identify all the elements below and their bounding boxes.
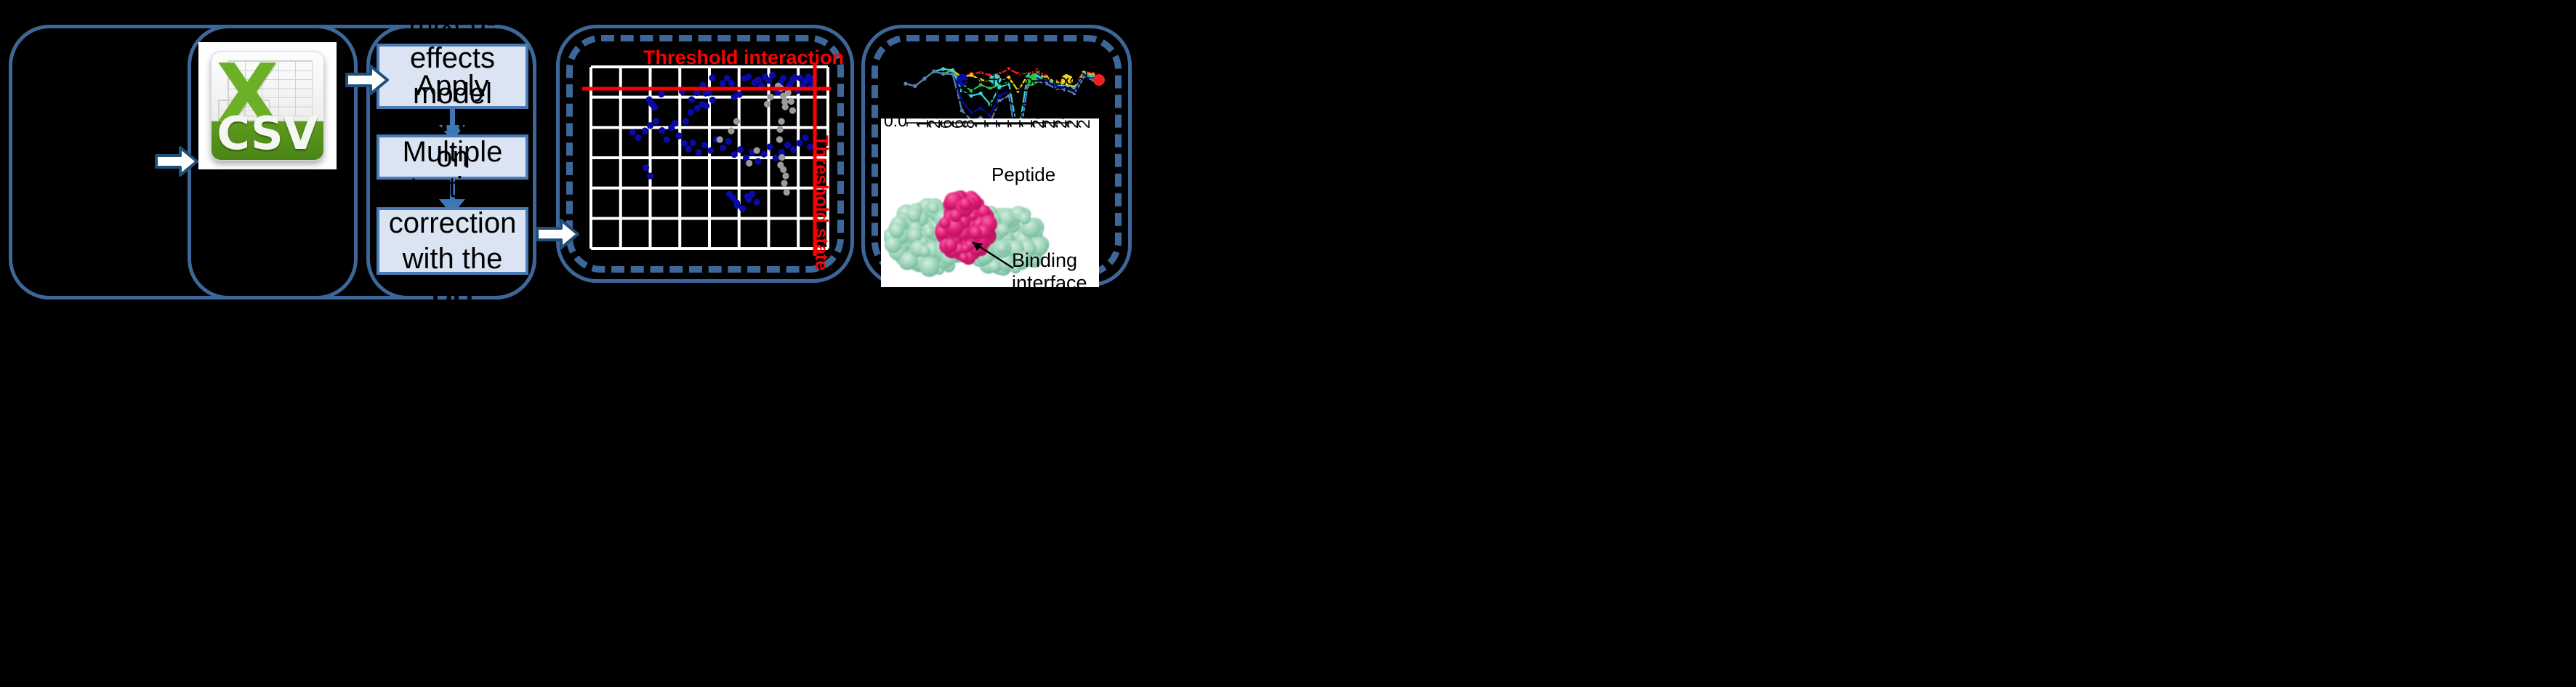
diagram-canvas: X CSV Fit a linear mixed- effects model … bbox=[0, 0, 2576, 687]
peptide-tick-277-284: 277-284 bbox=[1074, 68, 1094, 129]
legend-dot-series-5 bbox=[1093, 74, 1105, 86]
arrow-csv-to-stats bbox=[345, 63, 390, 97]
step-box-bh[interactable]: Multiple testing correction with the BH … bbox=[377, 207, 528, 275]
volcano-plot-svg bbox=[578, 44, 832, 262]
step-bh-text: Multiple testing correction with the BH … bbox=[387, 134, 518, 347]
volcano-plot: Threshold interaction Threshold state bbox=[578, 44, 832, 262]
csv-label: CSV bbox=[212, 109, 323, 158]
peptide-results-card: 0.0 1-1528-4463-7367-7581-101122-129135-… bbox=[881, 118, 1099, 287]
csv-file-card: X CSV bbox=[198, 42, 337, 169]
arrow-input-to-csv bbox=[154, 144, 199, 179]
threshold-state-label: Threshold state bbox=[810, 135, 832, 270]
binding-interface-label: Binding interface bbox=[1012, 249, 1087, 294]
arrow-stats-to-volcano bbox=[535, 217, 580, 252]
csv-file-icon: X CSV bbox=[211, 51, 324, 161]
